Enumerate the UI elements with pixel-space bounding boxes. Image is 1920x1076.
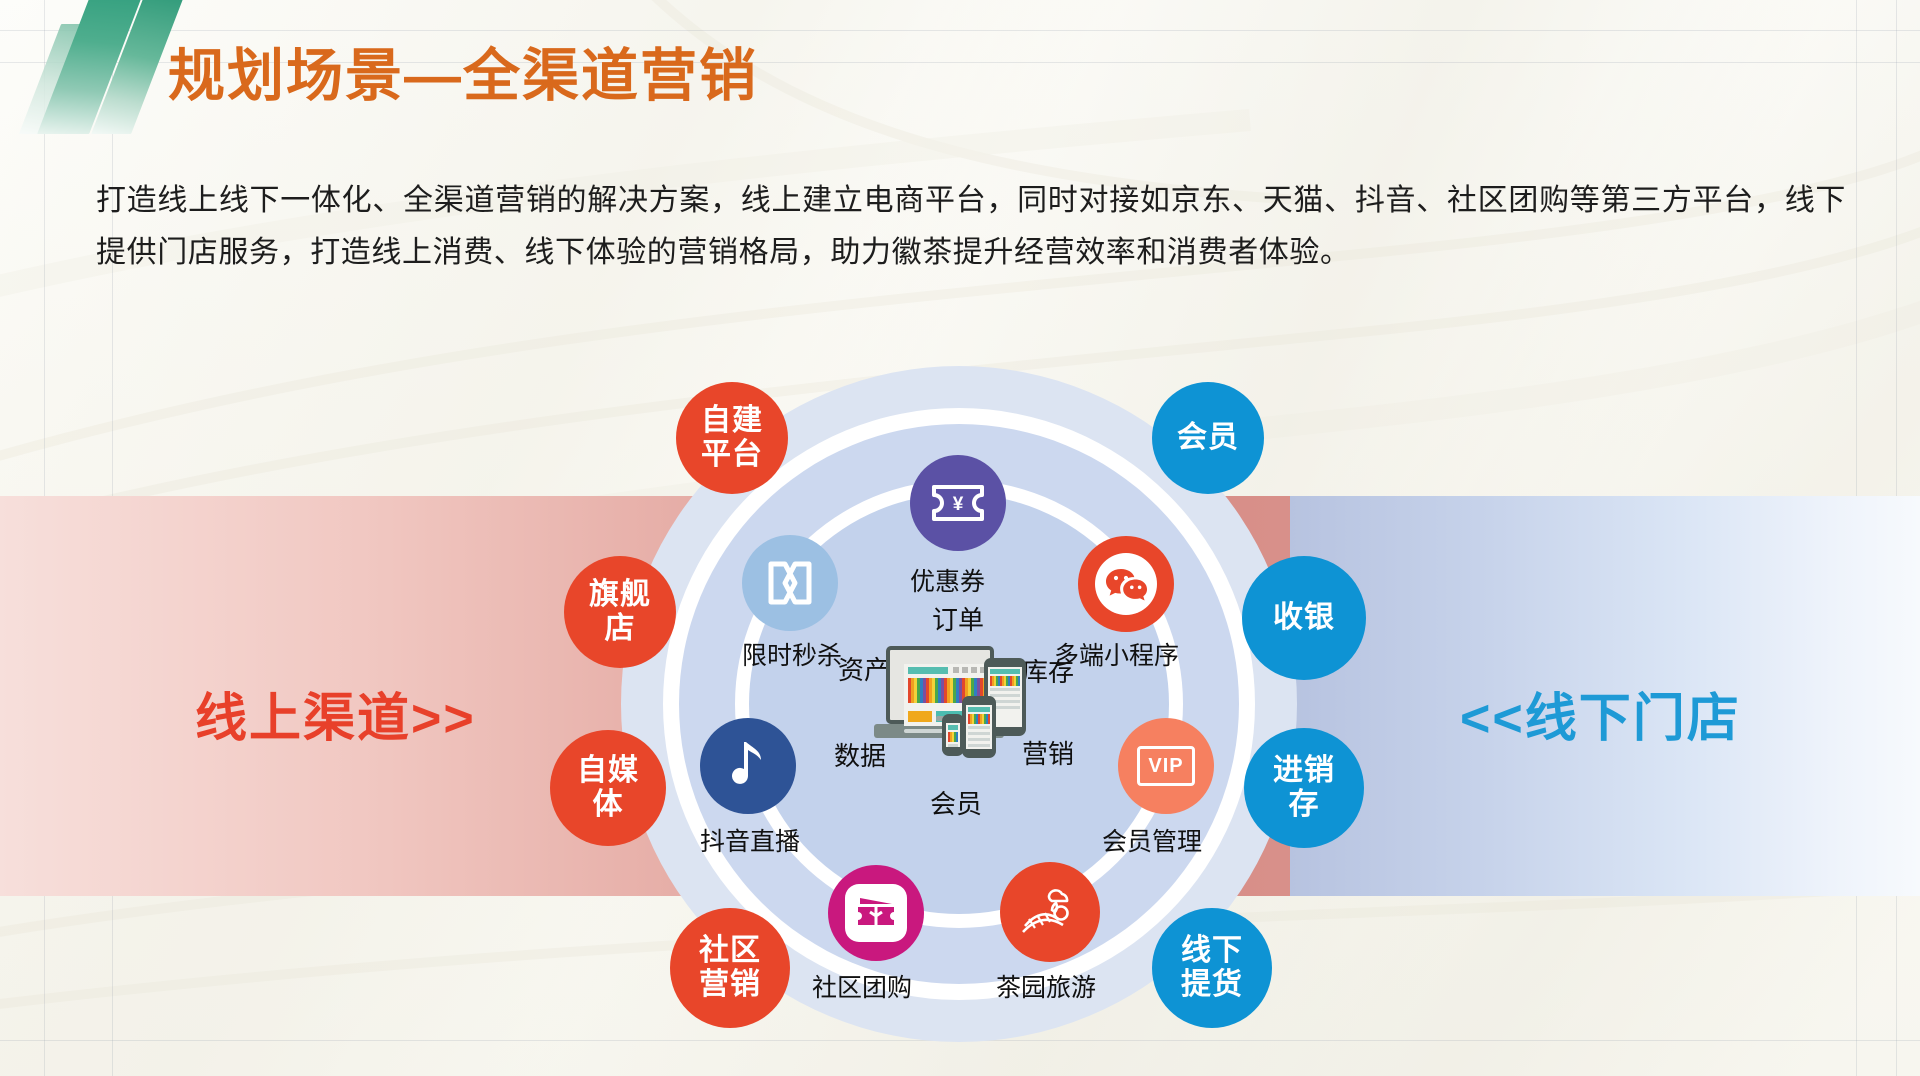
phone-medium [962,696,996,758]
hourglass-glyph [764,560,816,606]
store-label-line2: 提货 [1181,968,1243,1002]
online-channel-band-label: 线上渠道>> [195,676,476,751]
coupon-icon[interactable]: ¥ [910,455,1006,551]
devices-illustration [880,640,1060,770]
channel-self-built-platform[interactable]: 自建 平台 [676,382,788,494]
ticket-glyph: ¥ [930,483,986,523]
svg-text:¥: ¥ [953,494,964,515]
wechat-bubbles-glyph [1105,567,1147,601]
store-label-line1: 进销 [1273,754,1335,788]
channel-label-line2: 体 [577,788,639,822]
channel-label-line2: 平台 [701,438,763,472]
flash-sale-label: 限时秒杀 [742,636,842,672]
wechat-label: 多端小程序 [1054,636,1179,672]
group-buy-icon-plate [845,884,907,942]
channel-self-media[interactable]: 自媒 体 [550,730,666,846]
music-note-icon[interactable] [700,718,796,814]
store-membership[interactable]: 会员 [1152,382,1264,494]
flash-sale-icon[interactable] [742,535,838,631]
tea-garden-glyph [1019,886,1081,938]
store-inventory-management[interactable]: 进销 存 [1244,728,1364,848]
wechat-icon[interactable] [1078,536,1174,632]
coupon-label: 优惠券 [910,562,985,598]
screen-topbar [908,667,948,674]
group-buy-icon[interactable] [828,865,924,961]
core-label-data: 数据 [834,736,886,773]
music-note-glyph [726,738,770,794]
channel-label-line1: 自建 [701,404,763,438]
tea-garden-label: 茶园旅游 [996,968,1096,1004]
slide-canvas: 规划场景—全渠道营销 打造线上线下一体化、全渠道营销的解决方案，线上建立电商平台… [0,0,1920,1076]
tea-garden-icon[interactable] [1000,862,1100,962]
page-description: 打造线上线下一体化、全渠道营销的解决方案，线上建立电商平台，同时对接如京东、天猫… [96,175,1846,278]
channel-label-line2: 营销 [699,968,761,1002]
vip-card-glyph: VIP [1137,746,1195,786]
phone-small [942,714,964,756]
store-cashier[interactable]: 收银 [1242,556,1366,680]
channel-label-line1: 自媒 [577,754,639,788]
channel-label-line2: 店 [589,612,651,646]
guide-line-top [0,30,1920,31]
member-management-label: 会员管理 [1102,822,1202,858]
vip-card-icon[interactable]: VIP [1118,718,1214,814]
store-offline-pickup[interactable]: 线下 提货 [1152,908,1272,1028]
store-label-line1: 线下 [1181,934,1243,968]
store-label-line2: 存 [1273,788,1335,822]
ticket-stack-glyph [854,894,898,932]
store-label-line1: 收银 [1273,601,1335,635]
channel-community-marketing[interactable]: 社区 营销 [670,908,790,1028]
screen-block-orange [908,711,932,722]
group-buy-label: 社区团购 [812,968,912,1004]
store-label-line1: 会员 [1177,421,1239,455]
douyin-label: 抖音直播 [700,822,800,858]
channel-flagship-store[interactable]: 旗舰 店 [564,556,676,668]
channel-label-line1: 社区 [699,934,761,968]
wechat-icon-inner [1095,553,1157,615]
core-label-member: 会员 [930,784,982,821]
channel-label-line1: 旗舰 [589,578,651,612]
page-title: 规划场景—全渠道营销 [168,48,758,105]
offline-store-band-label: <<线下门店 [1460,676,1741,751]
core-label-order: 订单 [932,600,984,637]
